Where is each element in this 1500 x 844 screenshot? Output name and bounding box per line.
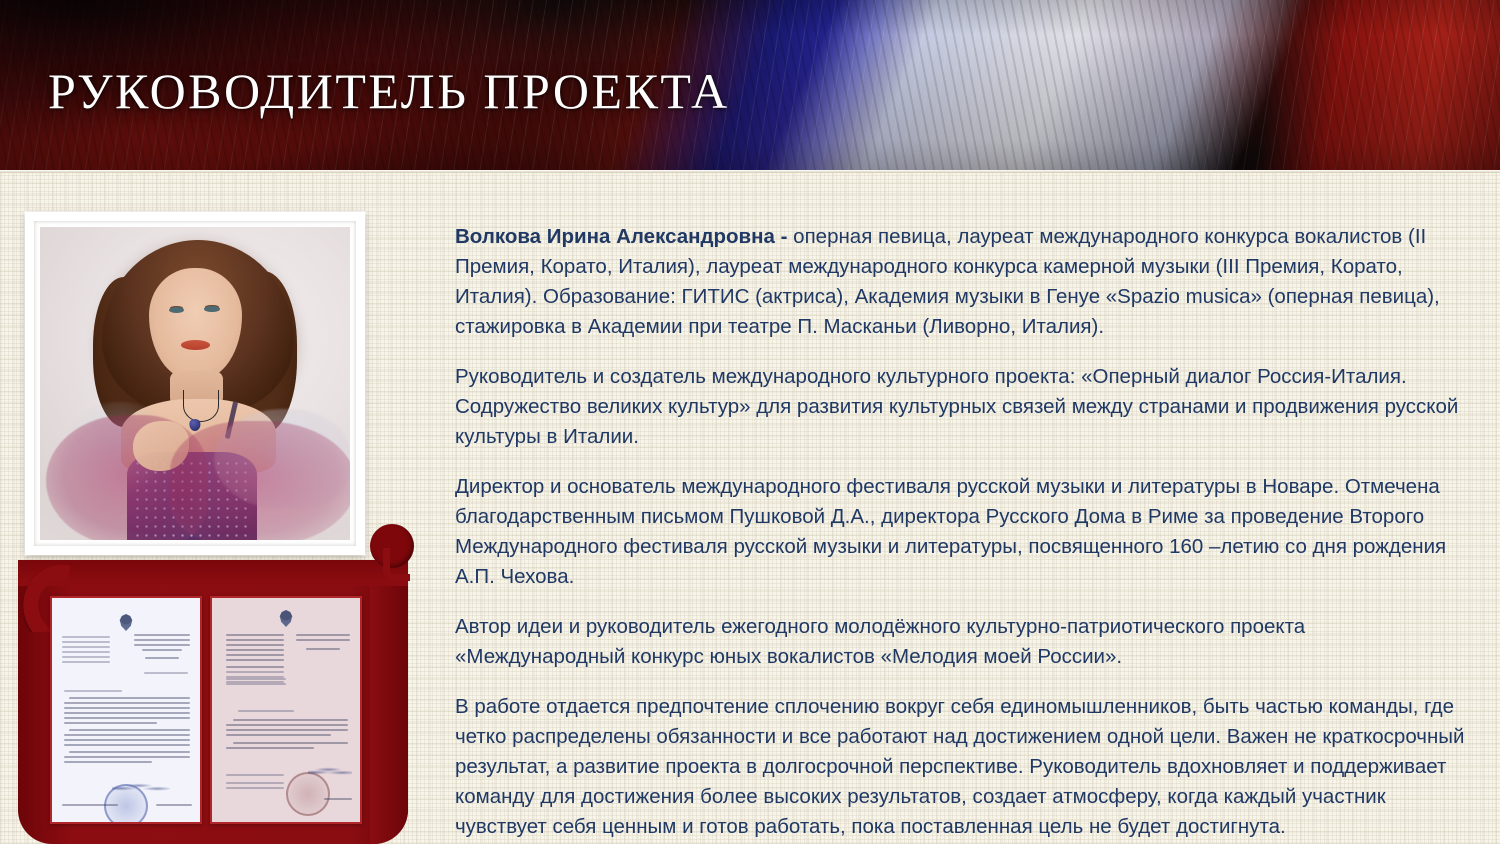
person-name-lead: Волкова Ирина Александровна - (455, 225, 793, 248)
reference-number-2 (226, 678, 286, 688)
gratitude-letter-2 (210, 596, 362, 824)
portrait-photo-frame (25, 212, 365, 555)
page-title: РУКОВОДИТЕЛЬ ПРОЕКТА (48, 62, 730, 120)
signer-name-2 (324, 798, 352, 803)
header-divider-rule (0, 170, 1500, 173)
russian-coat-of-arms-icon-2 (279, 610, 294, 627)
russian-coat-of-arms-icon (119, 614, 134, 631)
paragraph-2: Руководитель и создатель международного … (455, 362, 1475, 452)
slide-root: РУКОВОДИТЕЛЬ ПРОЕКТА (0, 0, 1500, 844)
biography-text-column: Волкова Ирина Александровна - оперная пе… (455, 222, 1475, 842)
signature-2 (308, 764, 352, 778)
closing-block-2 (226, 774, 284, 792)
paragraph-5: В работе отдается предпочтение сплочению… (455, 692, 1475, 842)
paragraph-1: Волкова Ирина Александровна - оперная пе… (455, 222, 1475, 342)
scroll-curl-right-icon (370, 518, 426, 598)
date-block-1 (144, 672, 188, 677)
letter-body-2 (226, 710, 348, 752)
signer-name-1 (62, 804, 118, 809)
banner-right-edge (370, 586, 408, 844)
letter-body-1 (64, 690, 190, 766)
photo-soft-vignette (40, 227, 350, 540)
addressee-block-2 (296, 634, 350, 653)
addressee-block-1 (134, 634, 190, 662)
paragraph-3: Директор и основатель международного фес… (455, 472, 1475, 592)
documents-scroll-banner (18, 560, 408, 844)
official-seal-2 (286, 772, 330, 816)
paragraph-4: Автор идеи и руководитель ежегодного мол… (455, 612, 1475, 672)
portrait-photo (40, 227, 350, 540)
letterhead-block-1 (62, 636, 110, 666)
signer-title-1 (156, 804, 192, 809)
slide-header-banner: РУКОВОДИТЕЛЬ ПРОЕКТА (0, 0, 1500, 170)
gratitude-letter-1 (50, 596, 202, 824)
